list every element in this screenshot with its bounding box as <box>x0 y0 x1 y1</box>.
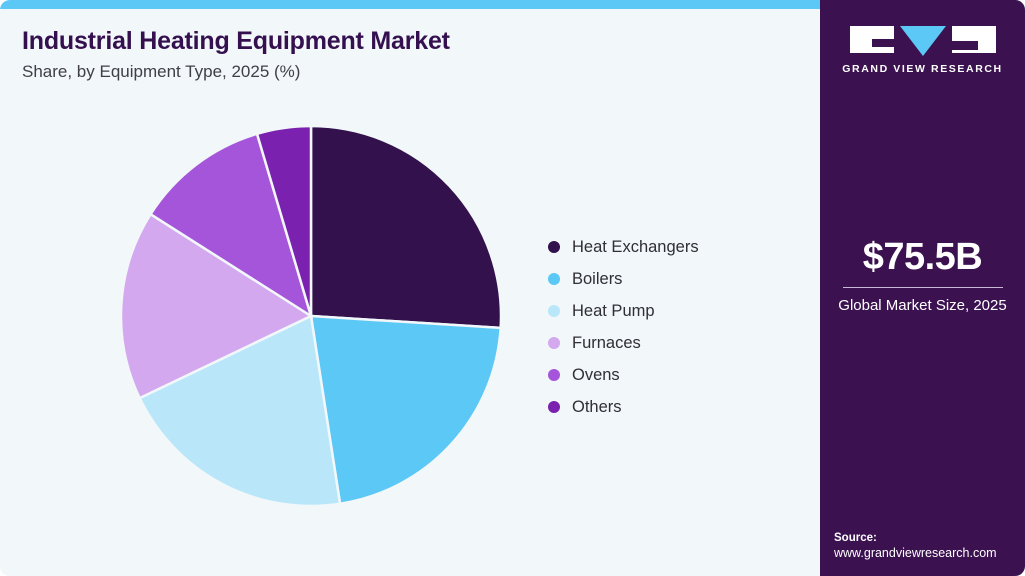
legend-color-swatch-icon <box>548 273 560 285</box>
source-url: www.grandviewresearch.com <box>834 546 1024 560</box>
gvr-logo: GRAND VIEW RESEARCH <box>820 26 1025 75</box>
chart-main-area: Industrial Heating Equipment Market Shar… <box>0 9 820 576</box>
source-label: Source: <box>834 532 1024 544</box>
logo-r-icon <box>952 26 996 53</box>
stat-value: $75.5B <box>820 238 1025 278</box>
legend-color-swatch-icon <box>548 401 560 413</box>
legend-item-label: Heat Exchangers <box>572 238 699 257</box>
legend-item-label: Others <box>572 398 622 417</box>
chart-legend: Heat ExchangersBoilersHeat PumpFurnacesO… <box>548 231 798 423</box>
pie-chart-svg <box>111 116 511 516</box>
page-title: Industrial Heating Equipment Market <box>22 27 450 56</box>
logo-v-triangle-icon <box>900 26 946 56</box>
legend-color-swatch-icon <box>548 337 560 349</box>
source-footer: Source: www.grandviewresearch.com <box>834 532 1024 560</box>
legend-item-label: Boilers <box>572 270 622 289</box>
logo-g-icon <box>850 26 894 53</box>
chart-card: Industrial Heating Equipment Market Shar… <box>0 0 1025 576</box>
legend-color-swatch-icon <box>548 241 560 253</box>
legend-item[interactable]: Furnaces <box>548 327 798 359</box>
legend-item-label: Heat Pump <box>572 302 655 321</box>
pie-chart <box>111 116 511 516</box>
pie-slice-group <box>121 126 501 506</box>
stat-divider <box>843 287 1003 288</box>
legend-item[interactable]: Ovens <box>548 359 798 391</box>
page-subtitle: Share, by Equipment Type, 2025 (%) <box>22 62 300 82</box>
stat-caption: Global Market Size, 2025 <box>820 296 1025 316</box>
legend-item[interactable]: Heat Exchangers <box>548 231 798 263</box>
legend-color-swatch-icon <box>548 369 560 381</box>
logo-marks <box>820 26 1025 54</box>
legend-color-swatch-icon <box>548 305 560 317</box>
legend-item[interactable]: Others <box>548 391 798 423</box>
legend-item[interactable]: Boilers <box>548 263 798 295</box>
brand-side-panel: GRAND VIEW RESEARCH $75.5B Global Market… <box>820 0 1025 576</box>
pie-slice[interactable] <box>311 316 501 504</box>
legend-item[interactable]: Heat Pump <box>548 295 798 327</box>
logo-wordmark: GRAND VIEW RESEARCH <box>820 63 1025 75</box>
pie-slice[interactable] <box>311 126 501 328</box>
legend-item-label: Furnaces <box>572 334 641 353</box>
legend-item-label: Ovens <box>572 366 620 385</box>
market-size-stat: $75.5B Global Market Size, 2025 <box>820 238 1025 315</box>
